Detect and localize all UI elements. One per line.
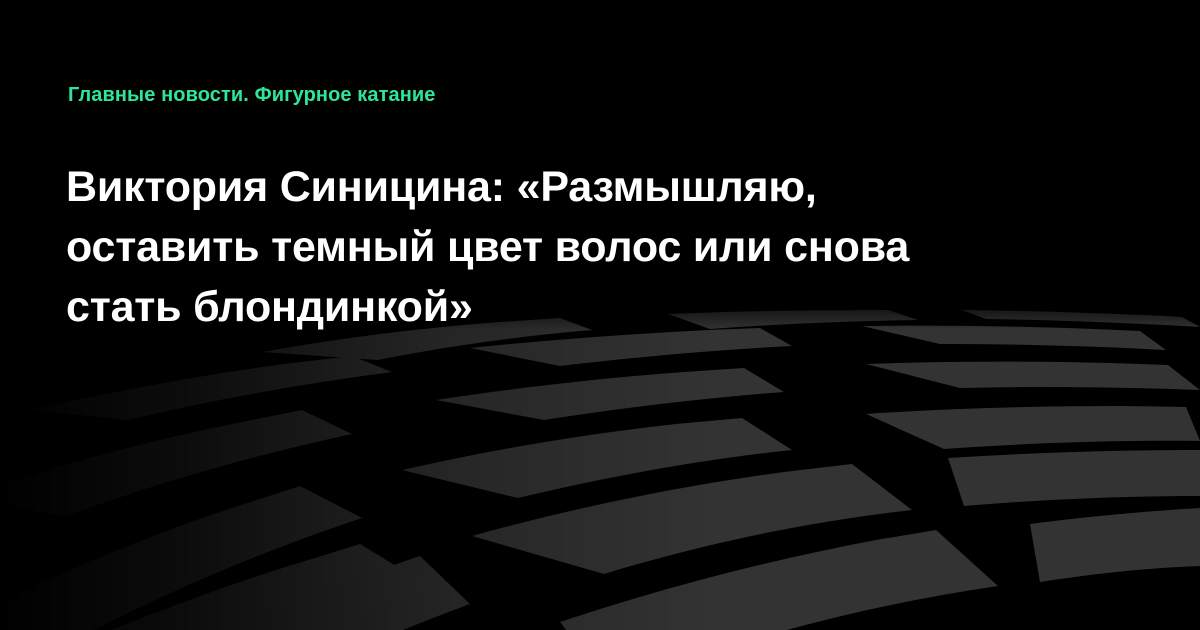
headline-line-2: оставить темный цвет волос или снова — [66, 217, 1086, 277]
social-share-card: Главные новости. Фигурное катание Виктор… — [0, 0, 1200, 630]
card-content: Главные новости. Фигурное катание Виктор… — [0, 0, 1200, 630]
headline-line-3: стать блондинкой» — [66, 277, 1086, 337]
headline-line-1: Виктория Синицина: «Размышляю, — [66, 157, 1086, 217]
kicker-category[interactable]: Главные новости. Фигурное катание — [68, 82, 436, 108]
page-title: Виктория Синицина: «Размышляю, оставить … — [66, 157, 1086, 337]
